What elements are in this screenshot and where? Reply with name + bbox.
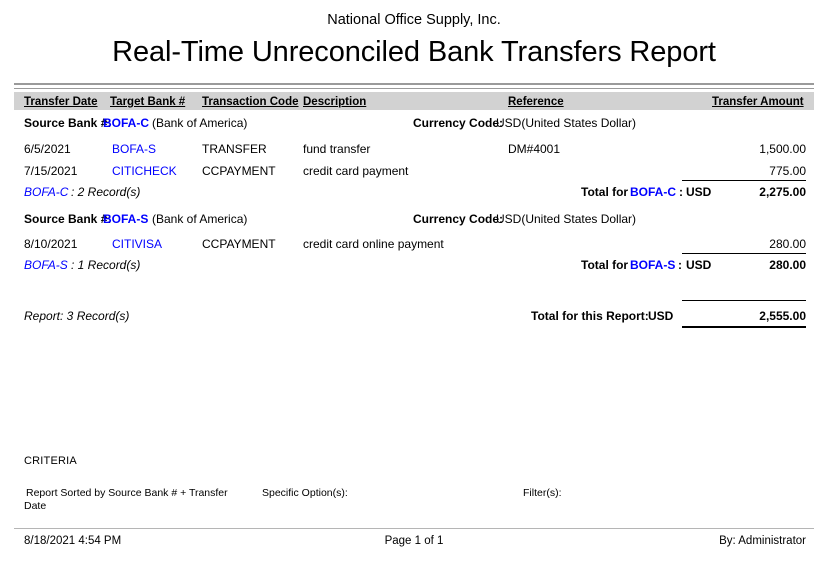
report-total-currency: USD: [648, 309, 673, 323]
currency-code-value-1: USD(United States Dollar): [496, 116, 636, 130]
source-bank-code-1[interactable]: BOFA-C: [103, 116, 149, 130]
report-total-rule-top: [682, 300, 806, 301]
column-header-transaction-code: Transaction Code: [202, 95, 299, 109]
group-record-count-code: BOFA-S: [24, 258, 68, 272]
page-title: Real-Time Unreconciled Bank Transfers Re…: [0, 36, 828, 69]
source-bank-name-2: (Bank of America): [152, 212, 247, 226]
cell-transfer-amount: 280.00: [682, 237, 806, 251]
criteria-sort-line2: Date: [24, 500, 46, 513]
currency-code-label-2: Currency Code:: [413, 212, 503, 226]
criteria-specific-options: Specific Option(s):: [262, 487, 348, 500]
subtotal-rule: [682, 180, 806, 181]
column-header-reference: Reference: [508, 95, 564, 109]
column-header-description: Description: [303, 95, 366, 109]
footer-author: By: Administrator: [719, 535, 806, 547]
currency-code-label-1: Currency Code:: [413, 116, 503, 130]
report-page: National Office Supply, Inc. Real-Time U…: [0, 0, 828, 580]
header-rule-upper: [14, 83, 814, 85]
subtotal-amount: 2,275.00: [682, 185, 806, 199]
criteria-heading: CRITERIA: [24, 455, 77, 467]
report-record-count: Report: 3 Record(s): [24, 309, 129, 323]
footer-rule: [14, 528, 814, 529]
cell-transaction-code: TRANSFER: [202, 142, 267, 156]
group-record-count-text: : 2 Record(s): [71, 185, 140, 199]
group-record-count-text: : 1 Record(s): [71, 258, 140, 272]
subtotal-bank-code: BOFA-C: [630, 185, 676, 199]
source-bank-label-2: Source Bank #:: [24, 212, 111, 226]
cell-transfer-date: 8/10/2021: [24, 237, 77, 251]
column-header-target-bank: Target Bank #: [110, 95, 185, 109]
company-name: National Office Supply, Inc.: [0, 12, 828, 28]
cell-reference: DM#4001: [508, 142, 560, 156]
footer-page-number: Page 1 of 1: [0, 535, 828, 547]
criteria-filters: Filter(s):: [523, 487, 562, 500]
cell-transfer-amount: 775.00: [682, 164, 806, 178]
source-bank-name-1: (Bank of America): [152, 116, 247, 130]
cell-target-bank[interactable]: CITICHECK: [112, 164, 177, 178]
cell-transfer-amount: 1,500.00: [682, 142, 806, 156]
subtotal-label: Total for: [581, 185, 628, 199]
subtotal-label: Total for: [581, 258, 628, 272]
subtotal-amount: 280.00: [682, 258, 806, 272]
subtotal-rule: [682, 253, 806, 254]
source-bank-label-1: Source Bank #:: [24, 116, 111, 130]
group-record-count-code: BOFA-C: [24, 185, 68, 199]
subtotal-bank-code: BOFA-S: [630, 258, 675, 272]
header-rule-lower: [14, 88, 814, 89]
currency-code-value-2: USD(United States Dollar): [496, 212, 636, 226]
cell-target-bank[interactable]: CITIVISA: [112, 237, 162, 251]
column-header-transfer-amount: Transfer Amount: [712, 95, 804, 109]
cell-transfer-date: 6/5/2021: [24, 142, 71, 156]
cell-description: credit card payment: [303, 164, 408, 178]
column-header-transfer-date: Transfer Date: [24, 95, 98, 109]
report-total-label: Total for this Report:: [531, 309, 649, 323]
cell-description: credit card online payment: [303, 237, 444, 251]
source-bank-code-2[interactable]: BOFA-S: [103, 212, 148, 226]
report-total-amount: 2,555.00: [682, 309, 806, 323]
cell-transfer-date: 7/15/2021: [24, 164, 77, 178]
cell-transaction-code: CCPAYMENT: [202, 237, 276, 251]
cell-target-bank[interactable]: BOFA-S: [112, 142, 156, 156]
report-total-rule-bottom: [682, 326, 806, 328]
cell-description: fund transfer: [303, 142, 370, 156]
criteria-sort-line1: Report Sorted by Source Bank # + Transfe…: [26, 487, 251, 500]
cell-transaction-code: CCPAYMENT: [202, 164, 276, 178]
